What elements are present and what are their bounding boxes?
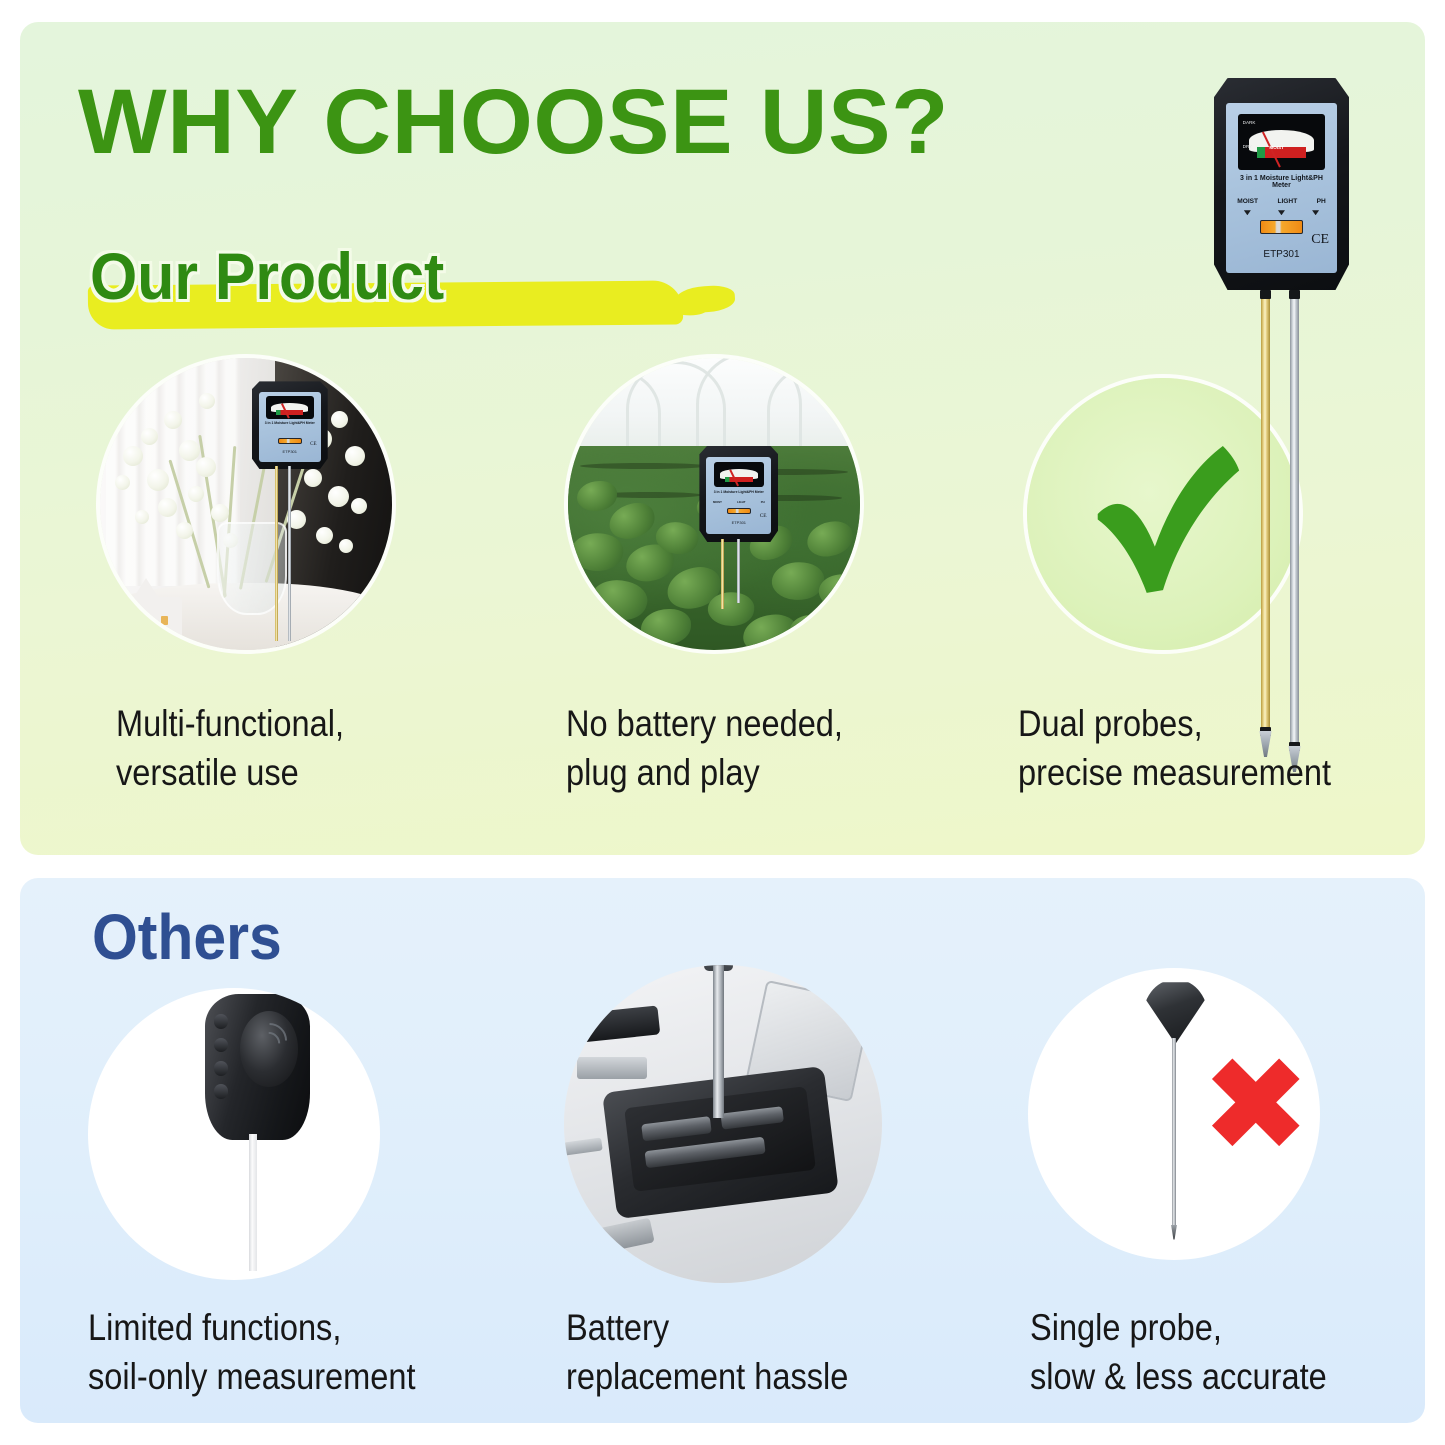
probe-silver-inline-2 [737,539,740,603]
meter-model-line: 3 in 1 Moisture Light&PH Meter [710,490,767,494]
mode-label-moist: MOIST [1237,198,1258,205]
meter-device-inline-1: 3 in 1 Moisture Light&PH Meter CE ETP301 [252,381,328,469]
meter-device-hero: DARK DRY MOIST 3 in 1 Moisture Light&PH … [1214,78,1349,290]
probe-gold-hero [1261,290,1270,735]
others-heading: Others [92,900,282,974]
caption-ours-1: Multi-functional, versatile use [116,700,574,798]
ce-mark: CE [760,513,767,519]
mode-label-ph: PH [761,500,765,504]
dial-label-dark: DARK [1243,120,1256,125]
meter-sku: ETP301 [706,520,771,525]
caption-ours-2: No battery needed, plug and play [566,700,1024,798]
meter-model-line: 3 in 1 Moisture Light&PH Meter [262,421,317,425]
photo-competitor-handheld [88,988,380,1280]
photo-single-probe-tool [1028,968,1320,1260]
photo-flowers-with-meter: 3 in 1 Moisture Light&PH Meter CE ETP301 [100,358,392,650]
meter-sku: ETP301 [1226,249,1337,260]
photo-greenhouse-with-meter: 3 in 1 Moisture Light&PH Meter MOIST LIG… [568,358,860,650]
infographic-page: WHY CHOOSE US? Our Product [0,0,1445,1445]
probe-silver-inline-1 [288,466,291,641]
mode-label-moist: MOIST [713,500,722,504]
probe-silver-hero [1290,290,1299,750]
ce-mark: CE [310,442,316,447]
meter-dial: DARK DRY MOIST [1238,114,1324,170]
cross-icon [1028,968,1320,1260]
caption-ours-3: Dual probes, precise measurement [1018,700,1445,798]
caption-others-3: Single probe, slow & less accurate [1030,1304,1445,1402]
caption-others-1: Limited functions, soil-only measurement [88,1304,581,1402]
meter-device-inline-2: 3 in 1 Moisture Light&PH Meter MOIST LIG… [699,446,778,542]
ce-mark: CE [1311,232,1329,248]
our-product-heading: Our Product [90,238,444,314]
caption-others-2: Battery replacement hassle [566,1304,1024,1402]
page-title: WHY CHOOSE US? [78,70,949,175]
meter-sku: ETP301 [259,449,321,454]
check-mark-circle [1027,378,1299,650]
mode-label-light: LIGHT [1277,198,1297,205]
probe-gold-inline-1 [275,466,278,641]
dial-label-moist: MOIST [1269,145,1284,150]
photo-battery-replacement [564,965,882,1283]
mode-label-light: LIGHT [737,500,745,504]
dial-label-dry: DRY [1243,144,1253,149]
meter-model-line: 3 in 1 Moisture Light&PH Meter [1233,175,1330,189]
check-icon [1027,378,1299,650]
probe-gold-inline-2 [721,539,724,609]
mode-label-ph: PH [1317,198,1326,205]
